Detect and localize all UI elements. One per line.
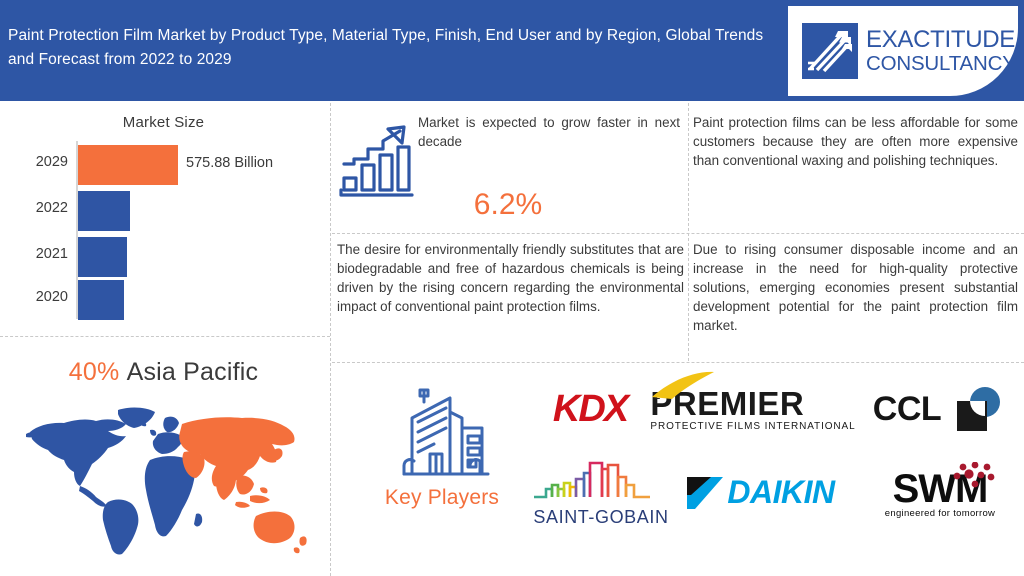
ccl-mark-icon: [949, 385, 1007, 433]
ccl-logo: CCL: [860, 378, 1020, 440]
key-players-title-block: Key Players: [352, 374, 532, 534]
brand-logo: EXACTITUDE CONSULTANCY: [786, 4, 1020, 98]
growth-insight-panel: Market is expected to grow faster in nex…: [330, 101, 686, 232]
swm-tagline: engineered for tomorrow: [885, 508, 995, 519]
infographic-page: Paint Protection Film Market by Product …: [0, 0, 1024, 576]
bar-category-label: 2022: [8, 200, 68, 216]
bar-row: 2020: [8, 280, 320, 320]
daikin-logo: DAIKIN: [660, 462, 860, 522]
region-percent: 40%: [69, 358, 120, 386]
map-highlight-asia-pacific: [179, 417, 306, 553]
region-heading: 40% Asia Pacific: [0, 358, 327, 387]
logo-line-1: EXACTITUDE: [866, 28, 1016, 53]
market-size-chart: Market Size 2029 575.88 Billion 2022 202…: [0, 101, 327, 335]
ccl-wordmark: CCL: [873, 390, 941, 429]
insight-middle-bottom: The desire for environmentally friendly …: [337, 240, 684, 316]
insight-top-right: Paint protection films can be less affor…: [693, 113, 1018, 170]
bar-value-label: 575.88 Billion: [186, 155, 273, 171]
region-name: Asia Pacific: [127, 358, 259, 386]
world-map: [22, 398, 312, 558]
bar-category-label: 2021: [8, 246, 68, 262]
bar-row: 2022: [8, 191, 320, 231]
header-bar: Paint Protection Film Market by Product …: [0, 0, 1024, 101]
bar-row: 2021: [8, 237, 320, 277]
page-title: Paint Protection Film Market by Product …: [8, 24, 778, 72]
kdx-wordmark: KDX: [553, 388, 627, 431]
logo-wordmark: EXACTITUDE CONSULTANCY: [866, 28, 1016, 74]
divider-horizontal-mid: [332, 233, 1024, 234]
divider-vertical-right: [688, 103, 689, 361]
logo-line-2: CONSULTANCY: [866, 53, 1016, 74]
saint-gobain-skyline-icon: [530, 459, 672, 501]
key-players-panel: Key Players KDX PREMIER PROTECTIVE FILMS…: [330, 364, 1024, 576]
bar-category-label: 2029: [8, 154, 68, 170]
bar-2029[interactable]: [78, 145, 178, 185]
divider-horizontal-players: [332, 362, 1024, 363]
bar-2021[interactable]: [78, 237, 127, 277]
bar-category-label: 2020: [8, 289, 68, 305]
swm-logo: SWM engineered for tomorrow: [850, 456, 1024, 532]
saint-gobain-wordmark: SAINT-GOBAIN: [530, 507, 672, 528]
chart-plot-area: 2029 575.88 Billion 2022 2021 2020: [8, 141, 320, 323]
bar-row: 2029 575.88 Billion: [8, 145, 320, 185]
region-share-panel: 40% Asia Pacific: [0, 336, 327, 576]
growth-description: Market is expected to grow faster in nex…: [418, 113, 680, 151]
key-players-label: Key Players: [352, 486, 532, 510]
bar-2022[interactable]: [78, 191, 130, 231]
daikin-mark-icon: [685, 473, 725, 511]
chart-title: Market Size: [0, 114, 327, 131]
bar-2020[interactable]: [78, 280, 124, 320]
premier-tagline: PROTECTIVE FILMS INTERNATIONAL: [650, 421, 855, 432]
daikin-wordmark: DAIKIN: [727, 474, 834, 511]
office-building-icon: [390, 382, 494, 482]
logo-arrows-icon: [802, 23, 858, 79]
swm-dots-icon: [945, 462, 1001, 488]
map-base-regions: [26, 408, 202, 555]
premier-logo: PREMIER PROTECTIVE FILMS INTERNATIONAL: [642, 376, 864, 442]
insight-bottom-right: Due to rising consumer disposable income…: [693, 240, 1018, 335]
growth-rate-value: 6.2%: [330, 188, 686, 222]
